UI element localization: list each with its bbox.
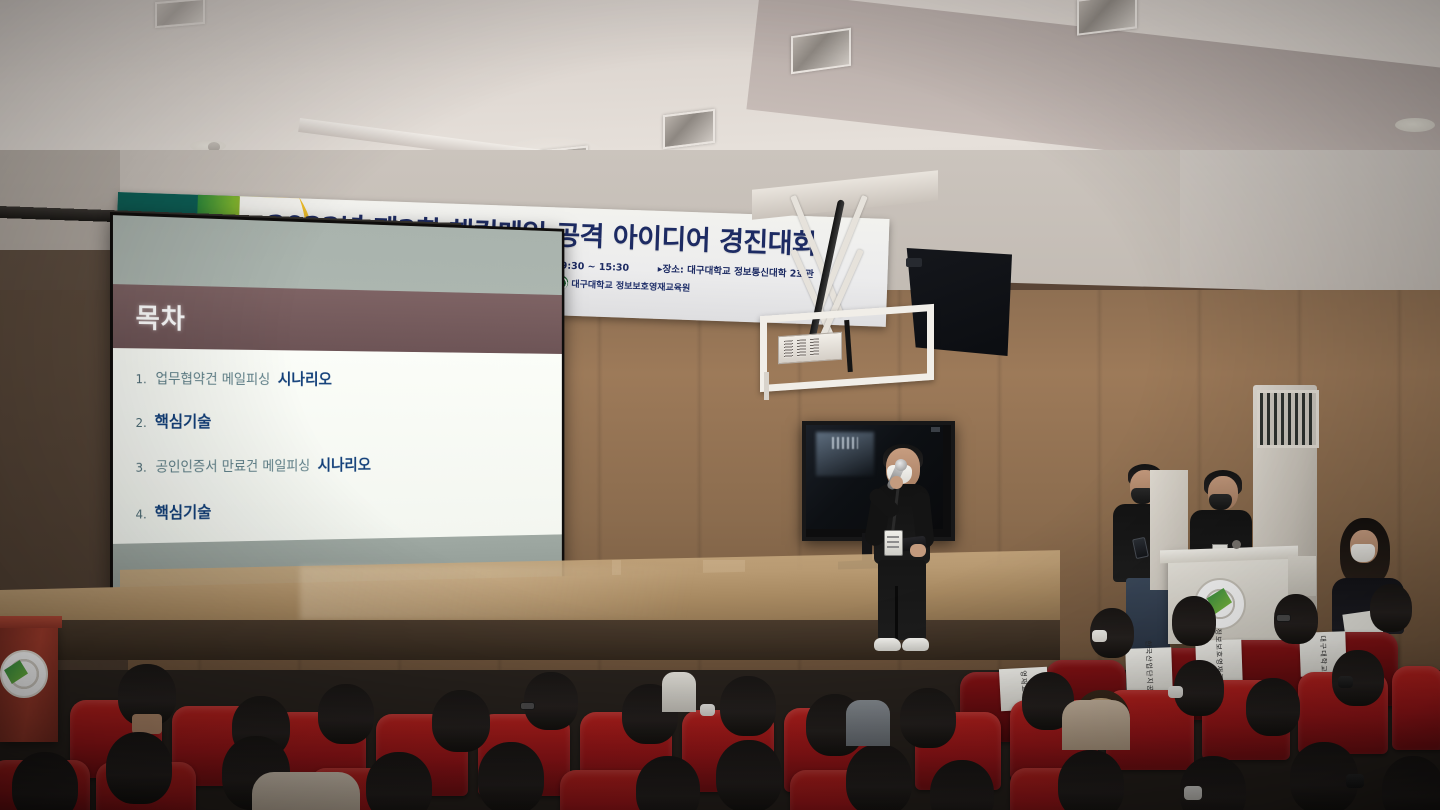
presenter-leg-split — [895, 586, 898, 640]
slide-item-emphasis: 시나리오 — [278, 370, 332, 389]
audience-head — [432, 690, 490, 752]
presenter-legs — [878, 560, 926, 640]
face-mask-icon — [700, 704, 715, 716]
slide-item-text: 공인인증서 만료건 메일피싱 — [156, 459, 311, 476]
audience-head — [366, 752, 432, 810]
projector-unit — [778, 332, 842, 364]
stage-floor-sheen — [300, 566, 860, 620]
air-conditioner-grille-icon — [1257, 390, 1319, 448]
projector-label-icon — [810, 338, 819, 356]
presenter-left-hand — [890, 476, 903, 489]
slide-item-emphasis: 핵심기술 — [155, 503, 212, 523]
slide-item-number: 3. — [136, 461, 147, 475]
speaker-driver-icon — [906, 258, 922, 267]
audience-head — [636, 756, 700, 810]
audience-head — [900, 688, 956, 748]
podium-microphone-icon — [1232, 540, 1241, 549]
slide-item: 2. 핵심기술 — [136, 408, 212, 432]
audience-head — [478, 742, 544, 810]
slide-item: 3. 공인인증서 만료건 메일피싱 시나리오 — [136, 452, 371, 477]
presenter-shoe-left — [874, 638, 901, 651]
upper-wall-right — [1180, 150, 1440, 310]
audience-head — [846, 744, 912, 810]
attendee-white-shirt — [662, 672, 696, 712]
ceiling-vent-icon — [155, 0, 205, 28]
podium-left-top — [0, 616, 62, 628]
slide-item-text: 업무협약건 메일피싱 — [156, 371, 271, 388]
attendee-grey-shirt — [846, 700, 890, 746]
seat-reserved-card: 한국산업단지공단 — [1125, 647, 1173, 693]
audience-head — [1382, 756, 1440, 810]
auditorium-scene: 2022년 제2회 해킹메일 공격 아이디어 경진대회 ▸일시: 2022. 1… — [0, 0, 1440, 810]
microphone-head-icon — [895, 459, 907, 471]
slide-item-number: 2. — [136, 416, 147, 430]
audience-head — [1370, 584, 1412, 632]
face-mask-icon — [1092, 630, 1107, 642]
audience-head — [318, 684, 374, 744]
organizer-2: 대구대학교 정보보호영재교육원 — [554, 275, 690, 294]
monitor-reflection-detail — [832, 437, 858, 449]
seat[interactable] — [1392, 666, 1440, 750]
audience-head — [1058, 750, 1124, 810]
banner-place: ▸장소: 대구대학교 정보통신대학 2호관 — [658, 264, 814, 280]
face-mask-icon — [1351, 544, 1375, 562]
projector-frame-post — [764, 372, 769, 400]
audience-head — [716, 740, 782, 810]
podium-right-shelf — [1288, 556, 1316, 596]
face-mask-icon — [1338, 676, 1353, 688]
slide-item-emphasis: 핵심기술 — [155, 412, 212, 431]
audience-head — [1172, 596, 1216, 646]
seat-card-text: 대구대학교 — [1317, 635, 1328, 673]
attendee-hoodie — [1062, 700, 1130, 750]
audience-head — [720, 676, 776, 736]
face-mask-icon — [1168, 686, 1183, 698]
audience-head — [12, 752, 78, 810]
attendee-light-jacket — [252, 772, 360, 810]
slide-item-number: 4. — [136, 507, 147, 521]
audience-head — [106, 732, 172, 804]
eyeglasses-icon — [520, 702, 535, 710]
slide-title: 목차 — [136, 297, 186, 337]
projector-label-icon — [797, 339, 806, 357]
ceiling-light-icon — [1395, 118, 1435, 132]
audience-head — [1180, 756, 1246, 810]
slide-item-number: 1. — [136, 372, 147, 386]
face-mask-icon — [1346, 774, 1364, 788]
presenter-right-hand — [910, 544, 926, 557]
audience-head — [1246, 678, 1300, 736]
projection-screen: 목차 1. 업무협약건 메일피싱 시나리오 2. 핵심기술 3. 공인인증서 만… — [110, 212, 564, 606]
eyeglasses-icon — [1276, 614, 1291, 622]
ceiling-vent-icon — [663, 109, 715, 149]
presenter-shoe-right — [902, 638, 929, 651]
audience-head — [524, 672, 578, 730]
name-badge — [884, 530, 903, 556]
slide-item-emphasis: 시나리오 — [318, 455, 371, 474]
projector-label-icon — [784, 340, 793, 358]
slide-item: 4. 핵심기술 — [136, 499, 212, 524]
face-mask-icon — [1184, 786, 1202, 800]
presenter — [866, 448, 936, 660]
monitor-power-led-icon — [931, 427, 940, 432]
audience-neck — [132, 714, 162, 734]
slide-item: 1. 업무협약건 메일피싱 시나리오 — [136, 364, 332, 389]
